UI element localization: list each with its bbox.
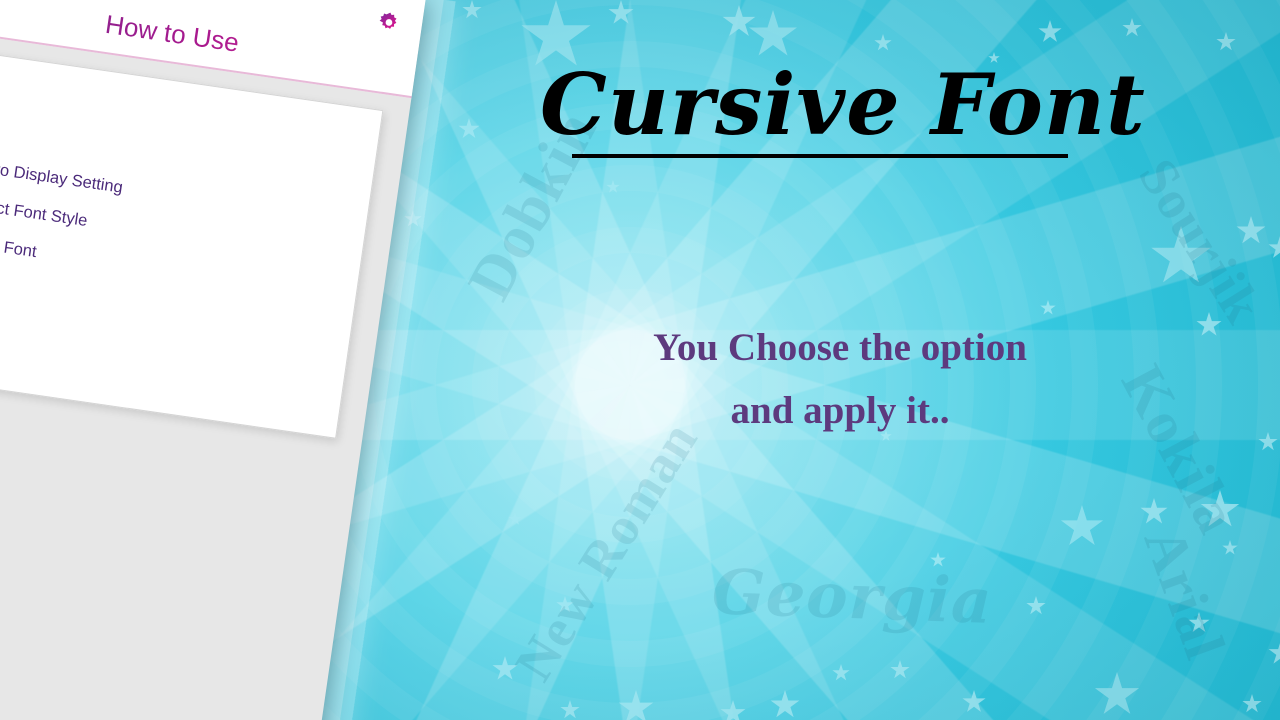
gear-icon[interactable] <box>374 8 403 37</box>
subtitle-line-1: You Choose the option <box>560 316 1120 379</box>
subtitle-line-2: and apply it.. <box>560 379 1120 442</box>
list-item-label: Select Font Style <box>0 194 89 231</box>
list-item-label: Go to Display Setting <box>0 157 124 198</box>
title-block: Cursive Font <box>540 62 1100 158</box>
watermark-text: Georgia <box>711 555 994 638</box>
steps-list: Go to Display SettingSelect Font StyleAp… <box>0 152 354 324</box>
title-underline <box>572 154 1068 158</box>
slide-title: Cursive Font <box>540 62 1100 148</box>
subtitle-block: You Choose the option and apply it.. <box>560 316 1120 442</box>
slide-canvas: DobkinSourjikKokilaArialNew RomanGeorgia… <box>0 0 1280 720</box>
list-item-label: Apply Font <box>0 232 38 262</box>
how-to-use-card: Go to Display SettingSelect Font StyleAp… <box>0 46 383 439</box>
